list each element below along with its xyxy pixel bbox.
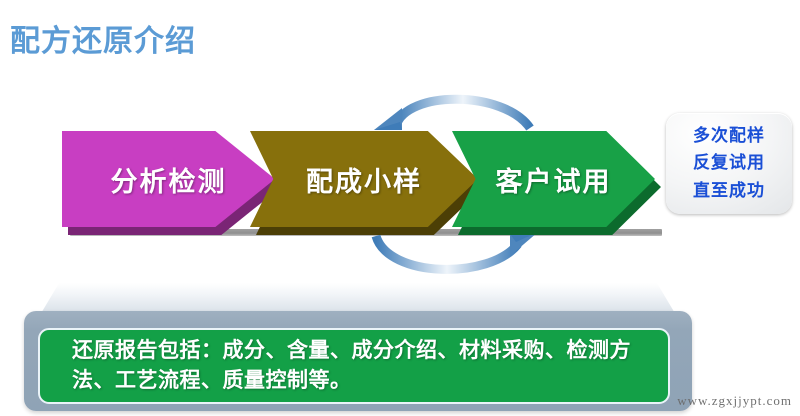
note-line-2: 反复试用 [693,151,765,176]
loop-arrow-bottom-icon [370,228,545,290]
step-2-label: 配成小样 [250,160,478,199]
report-text: 还原报告包括：成分、含量、成分介绍、材料采购、检测方法、工艺流程、质量控制等。 [40,336,668,396]
step-3-label: 客户试用 [452,160,655,199]
slide-canvas: 配方还原介绍 分析检测 配成小样 客户试用 [0,0,800,416]
process-step-2[interactable]: 配成小样 [250,131,478,227]
process-step-3[interactable]: 客户试用 [452,131,655,227]
step-1-label: 分析检测 [62,160,275,199]
report-panel: 还原报告包括：成分、含量、成分介绍、材料采购、检测方法、工艺流程、质量控制等。 [24,283,692,411]
process-step-1[interactable]: 分析检测 [62,131,275,227]
note-box[interactable]: 多次配样 反复试用 直至成功 [666,113,792,214]
note-line-1: 多次配样 [693,124,765,149]
note-line-3: 直至成功 [693,179,765,204]
page-title: 配方还原介绍 [10,16,196,60]
panel-content: 还原报告包括：成分、含量、成分介绍、材料采购、检测方法、工艺流程、质量控制等。 [38,328,670,404]
process-flow: 分析检测 配成小样 客户试用 [0,125,700,243]
watermark: www.zgxjjypt.com [677,393,792,409]
loop-arrow-top-icon [370,74,540,134]
